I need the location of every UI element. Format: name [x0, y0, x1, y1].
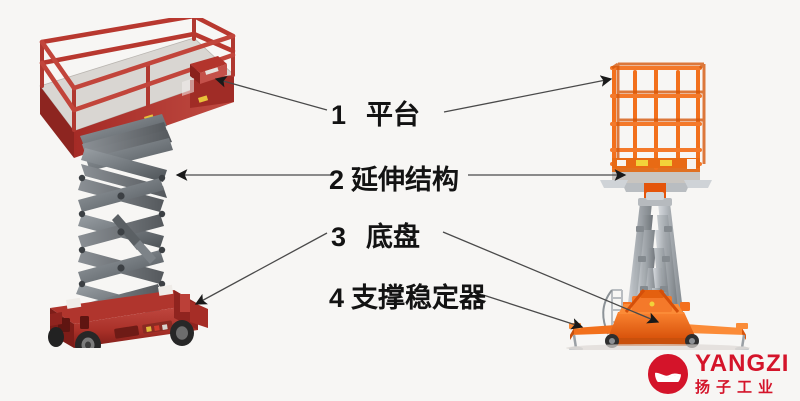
callout-chassis-text: 底盘	[366, 222, 420, 253]
callout-chassis-number: 3	[331, 222, 346, 252]
callout-stabilizer-text: 支撑稳定器	[351, 283, 486, 314]
arrow-3-left	[196, 233, 327, 304]
arrow-4-right	[477, 293, 582, 327]
arrow-1-left	[216, 79, 327, 110]
callout-arrows	[0, 0, 800, 401]
callout-extension-structure: 2延伸结构	[329, 158, 459, 197]
callout-chassis: 3底盘	[331, 215, 420, 254]
callout-platform-number: 1	[331, 100, 346, 130]
logo-brand-cn: 扬子工业	[695, 380, 789, 395]
arrow-1-right	[444, 79, 611, 112]
callout-platform: 1平台	[331, 93, 420, 132]
callout-support-stabilizer: 4支撑稳定器	[329, 276, 486, 315]
logo-brand-en: YANGZI	[695, 352, 789, 376]
yangzi-circle-wave-icon	[648, 354, 688, 394]
yangzi-logo: YANGZI 扬子工业	[648, 352, 789, 395]
callout-stabilizer-number: 4	[329, 283, 344, 313]
illustration-canvas: 1平台 2延伸结构 3底盘 4支撑稳定器 YANGZI 扬子工业	[0, 0, 800, 401]
callout-platform-text: 平台	[366, 100, 420, 131]
callout-extension-number: 2	[329, 165, 344, 195]
callout-extension-text: 延伸结构	[351, 165, 459, 196]
